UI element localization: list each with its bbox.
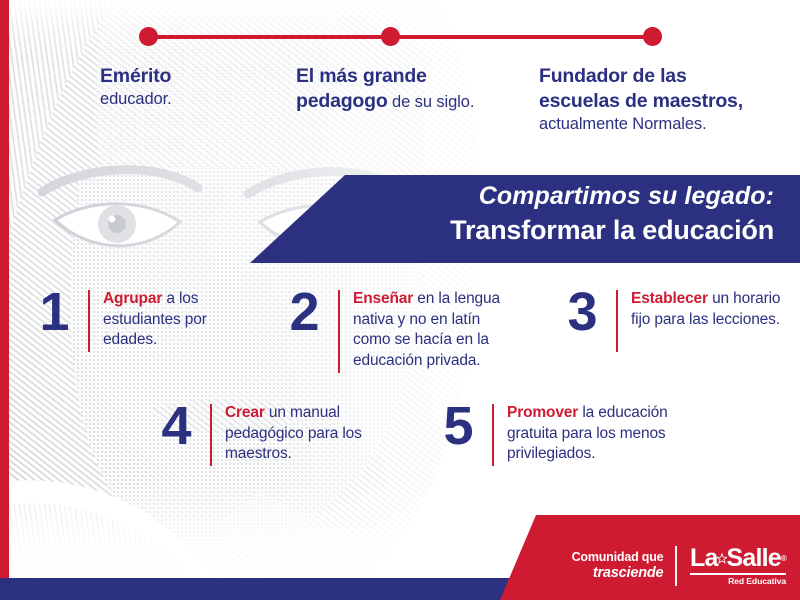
- legacy-banner: Compartimos su legado: Transformar la ed…: [250, 175, 800, 263]
- point-5-number: 5: [440, 402, 476, 452]
- star-icon: [717, 547, 727, 570]
- point-3-number: 3: [564, 288, 600, 338]
- headline-column-3: Fundador de las escuelas de maestros, ac…: [539, 64, 789, 135]
- point-1-divider: [88, 290, 90, 352]
- point-2-number: 2: [286, 288, 322, 338]
- logo-underline: [690, 573, 786, 574]
- footer-branding: Comunidad que trasciende La Salle® Red E…: [572, 546, 786, 586]
- headline-column-1: Emérito educador.: [100, 64, 275, 110]
- point-2-keyword: Enseñar: [353, 290, 413, 307]
- logo-salle-text: Salle: [727, 546, 781, 571]
- timeline-dot-1: [139, 27, 158, 46]
- point-5-text: Promover la educación gratuita para los …: [507, 402, 695, 465]
- timeline-connector-line: [148, 35, 653, 39]
- point-3-divider: [616, 290, 618, 352]
- headline-2-bold2: pedagogo: [296, 90, 388, 112]
- point-4-text: Crear un manual pedagógico para los maes…: [225, 402, 373, 465]
- point-item-3: 3 Establecer un horario fijo para las le…: [564, 288, 789, 352]
- point-item-5: 5 Promover la educación gratuita para lo…: [440, 402, 695, 466]
- logo-subtitle: Red Educativa: [690, 576, 786, 586]
- point-item-4: 4 Crear un manual pedagógico para los ma…: [158, 402, 373, 466]
- headline-1-bold: Emérito: [100, 65, 171, 87]
- footer-tagline-line2: trasciende: [572, 565, 664, 582]
- logo-registered-mark: ®: [781, 555, 786, 563]
- headline-3-bold2: escuelas de maestros,: [539, 90, 743, 112]
- logo-wordmark: La Salle®: [690, 546, 786, 571]
- headline-2-bold: El más grande: [296, 65, 427, 87]
- headline-3-normal: actualmente Normales.: [539, 115, 707, 133]
- infographic-canvas: Emérito educador. El más grande pedagogo…: [0, 0, 800, 600]
- point-5-keyword: Promover: [507, 404, 578, 421]
- headline-1-normal: educador.: [100, 90, 172, 108]
- footer-tagline: Comunidad que trasciende: [572, 550, 664, 581]
- logo-la-text: La: [690, 546, 718, 571]
- point-4-divider: [210, 404, 212, 466]
- point-item-2: 2 Enseñar en la lengua nativa y no en la…: [286, 288, 516, 373]
- la-salle-logo: La Salle® Red Educativa: [690, 546, 786, 585]
- point-1-keyword: Agrupar: [103, 290, 162, 307]
- point-3-text: Establecer un horario fijo para las lecc…: [631, 288, 789, 330]
- legacy-banner-text: Compartimos su legado: Transformar la ed…: [344, 181, 774, 246]
- banner-title: Transformar la educación: [344, 214, 774, 246]
- point-4-keyword: Crear: [225, 404, 265, 421]
- headline-column-2: El más grande pedagogo de su siglo.: [296, 64, 531, 114]
- footer-tagline-line1: Comunidad que: [572, 550, 664, 565]
- headline-2-normal: de su siglo.: [388, 93, 475, 111]
- timeline-dot-2: [381, 27, 400, 46]
- headline-3-bold: Fundador de las: [539, 65, 687, 87]
- footer-divider: [675, 546, 677, 586]
- point-item-1: 1 Agrupar a los estudiantes por edades.: [36, 288, 251, 352]
- point-2-text: Enseñar en la lengua nativa y no en latí…: [353, 288, 516, 371]
- banner-subtitle: Compartimos su legado:: [344, 181, 774, 212]
- point-1-number: 1: [36, 288, 72, 338]
- point-4-number: 4: [158, 402, 194, 452]
- point-1-text: Agrupar a los estudiantes por edades.: [103, 288, 251, 351]
- left-red-accent-bar: [0, 0, 9, 578]
- point-2-divider: [338, 290, 340, 373]
- point-3-keyword: Establecer: [631, 290, 708, 307]
- point-5-divider: [492, 404, 494, 466]
- timeline-dot-3: [643, 27, 662, 46]
